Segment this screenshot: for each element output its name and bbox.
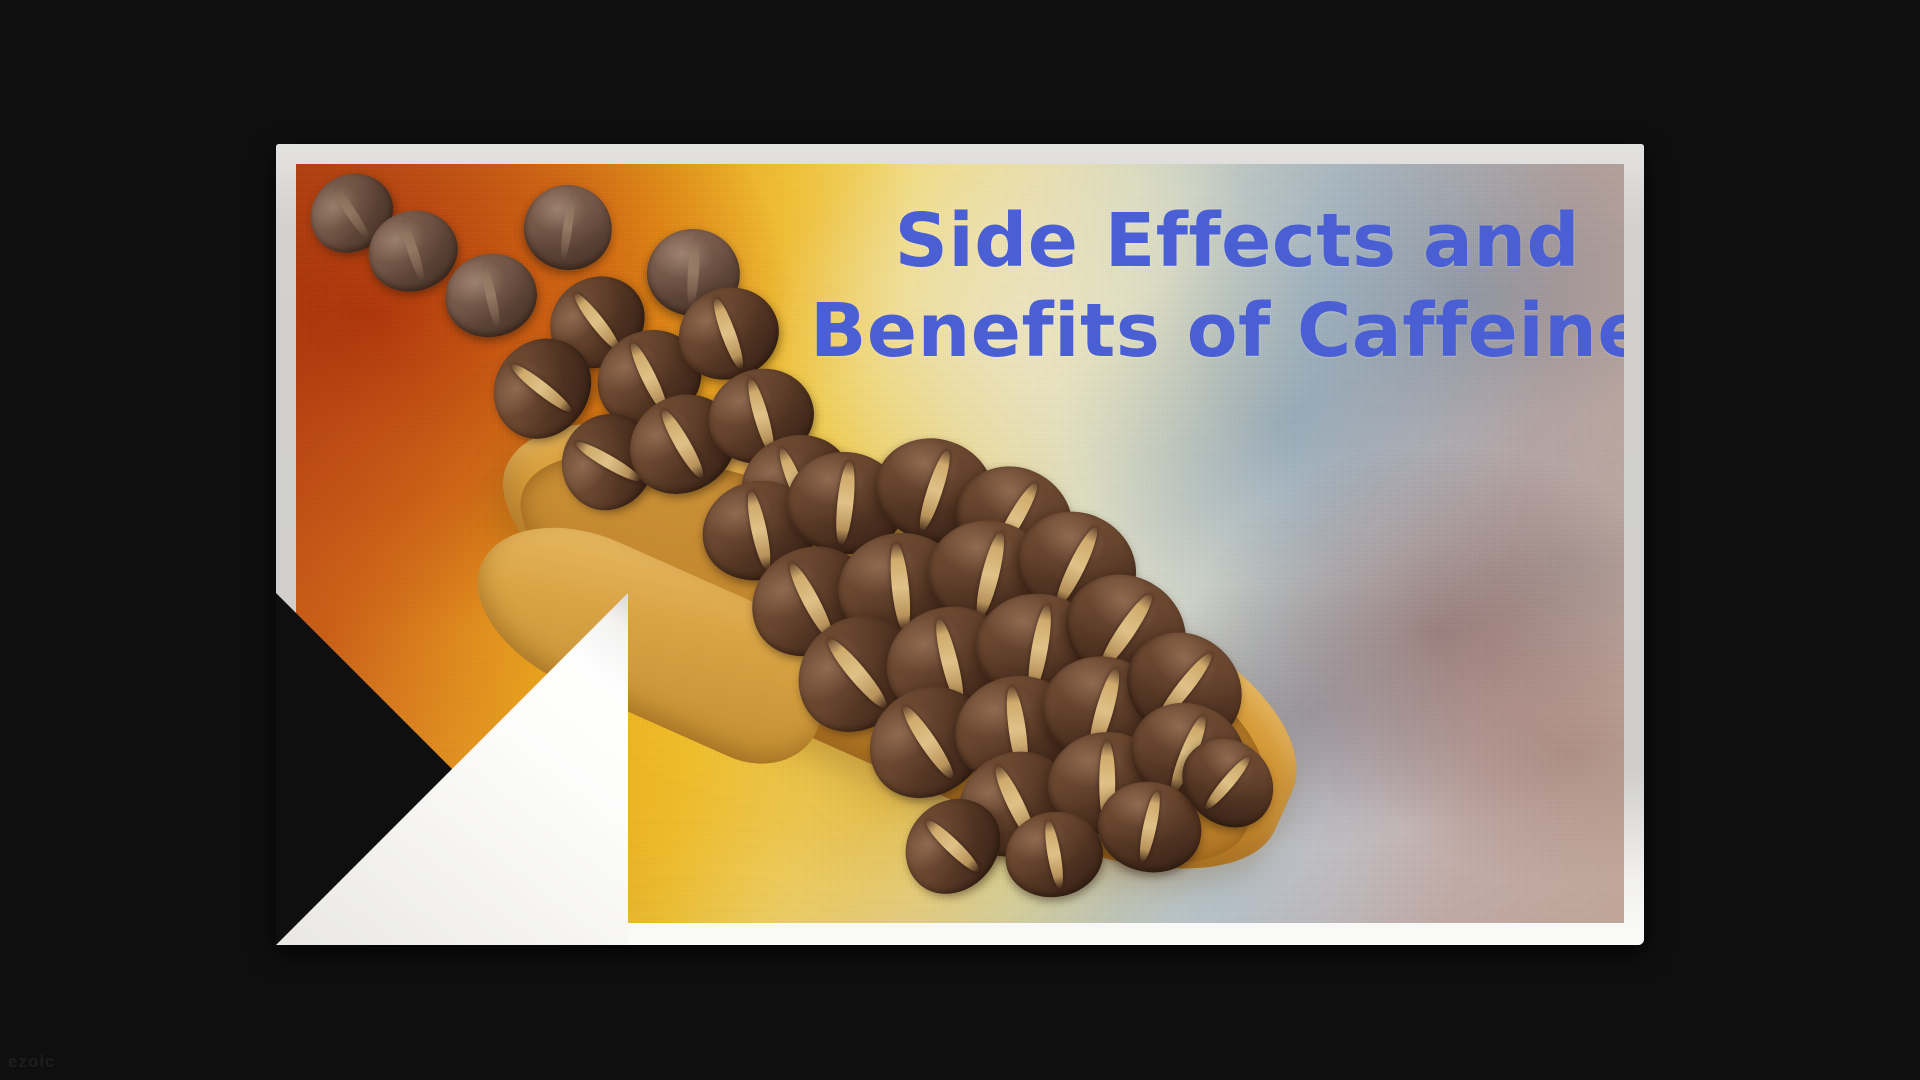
title-line-1: Side Effects and <box>810 204 1580 278</box>
photo-card: Side Effects and Benefits of Caffeine <box>276 144 1644 945</box>
title-line-2: Benefits of Caffeine <box>810 294 1580 368</box>
page-title: Side Effects and Benefits of Caffeine <box>810 204 1580 368</box>
artwork-image: Side Effects and Benefits of Caffeine <box>296 164 1624 923</box>
ezoic-watermark: ezoic <box>8 1052 56 1072</box>
